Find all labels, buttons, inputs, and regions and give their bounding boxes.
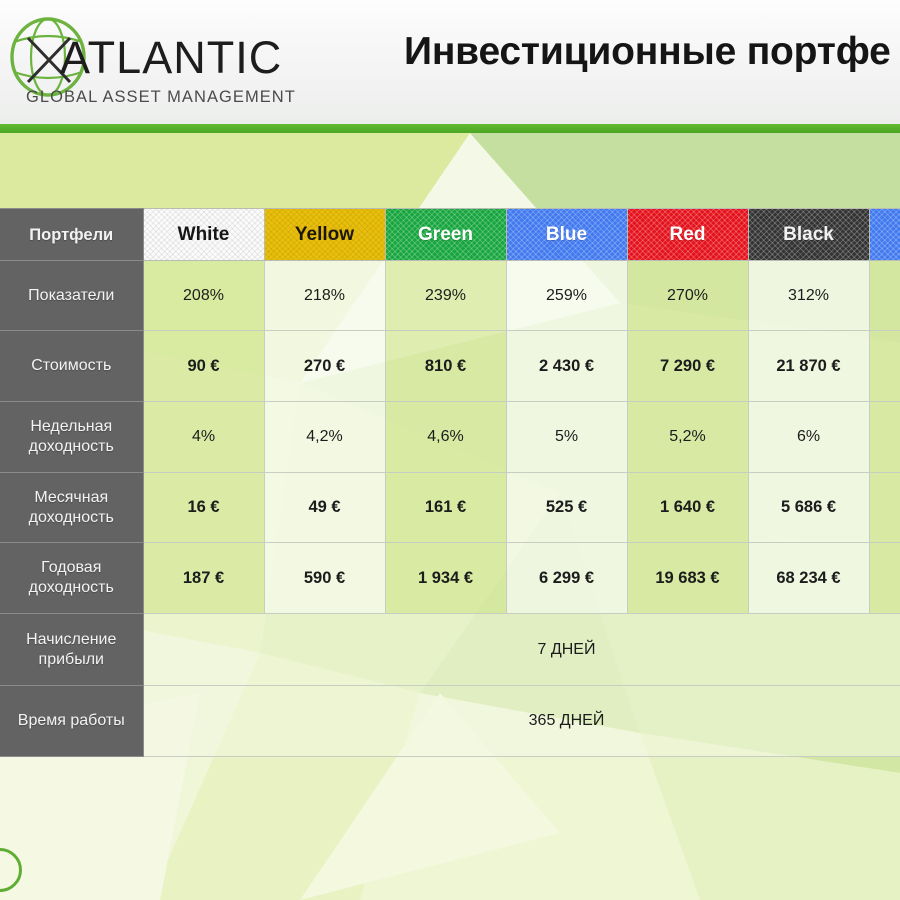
cell-annual-red: 19 683 € <box>627 543 748 614</box>
row-label-weekly-yield: Недельная доходность <box>0 402 143 473</box>
cell-monthly-red: 1 640 € <box>627 473 748 543</box>
cell-cost-green: 810 € <box>385 331 506 402</box>
column-header-next[interactable] <box>869 209 900 261</box>
cell-weekly-green: 4,6% <box>385 402 506 473</box>
portfolio-table-container: Портфели White Yellow Green Blue Red <box>0 208 900 760</box>
cell-annual-black: 68 234 € <box>748 543 869 614</box>
cell-indicators-yellow: 218% <box>264 261 385 331</box>
row-label-profit-accrual: Начисление прибыли <box>0 614 143 686</box>
cell-weekly-blue: 5% <box>506 402 627 473</box>
column-header-label: Green <box>418 224 473 245</box>
cell-work-time-value: 365 ДНЕЙ <box>143 686 900 757</box>
cell-annual-next: 2 <box>869 543 900 614</box>
column-header-red[interactable]: Red <box>627 209 748 261</box>
logo-wordmark: ATLANTIC <box>60 32 282 84</box>
column-header-label: Blue <box>546 224 587 245</box>
table-row: Годовая доходность 187 € 590 € 1 934 € 6… <box>0 543 900 614</box>
cell-monthly-white: 16 € <box>143 473 264 543</box>
cell-indicators-green: 239% <box>385 261 506 331</box>
row-label-cost: Стоимость <box>0 331 143 402</box>
row-label-annual-yield: Годовая доходность <box>0 543 143 614</box>
row-label-indicators: Показатели <box>0 261 143 331</box>
cell-cost-white: 90 € <box>143 331 264 402</box>
row-label-work-time: Время работы <box>0 686 143 757</box>
table-header-row: Портфели White Yellow Green Blue Red <box>0 209 900 261</box>
cell-cost-next: 6 <box>869 331 900 402</box>
cell-annual-yellow: 590 € <box>264 543 385 614</box>
cell-weekly-red: 5,2% <box>627 402 748 473</box>
accent-divider <box>0 124 900 133</box>
portfolio-table: Портфели White Yellow Green Blue Red <box>0 208 900 757</box>
column-header-label: Red <box>670 224 706 245</box>
cell-cost-red: 7 290 € <box>627 331 748 402</box>
cell-weekly-next <box>869 402 900 473</box>
cell-monthly-black: 5 686 € <box>748 473 869 543</box>
table-row: Время работы 365 ДНЕЙ <box>0 686 900 757</box>
table-row: Недельная доходность 4% 4,2% 4,6% 5% 5,2… <box>0 402 900 473</box>
cell-weekly-yellow: 4,2% <box>264 402 385 473</box>
cell-indicators-red: 270% <box>627 261 748 331</box>
cell-cost-black: 21 870 € <box>748 331 869 402</box>
cell-annual-blue: 6 299 € <box>506 543 627 614</box>
page-title: Инвестиционные портфе <box>404 30 891 74</box>
table-row: Показатели 208% 218% 239% 259% 270% 312% <box>0 261 900 331</box>
cell-cost-yellow: 270 € <box>264 331 385 402</box>
cell-indicators-next <box>869 261 900 331</box>
cell-annual-green: 1 934 € <box>385 543 506 614</box>
column-header-label: Yellow <box>295 224 354 245</box>
table-row: Месячная доходность 16 € 49 € 161 € 525 … <box>0 473 900 543</box>
cell-annual-white: 187 € <box>143 543 264 614</box>
brand-logo: ATLANTIC GLOBAL ASSET MANAGEMENT <box>8 14 272 106</box>
cell-monthly-yellow: 49 € <box>264 473 385 543</box>
cell-indicators-white: 208% <box>143 261 264 331</box>
table-row: Начисление прибыли 7 ДНЕЙ <box>0 614 900 686</box>
column-header-green[interactable]: Green <box>385 209 506 261</box>
cell-monthly-next: 1 <box>869 473 900 543</box>
cell-weekly-black: 6% <box>748 402 869 473</box>
column-header-blue[interactable]: Blue <box>506 209 627 261</box>
row-label-monthly-yield: Месячная доходность <box>0 473 143 543</box>
cell-monthly-blue: 525 € <box>506 473 627 543</box>
row-label-portfolios: Портфели <box>0 209 143 261</box>
column-header-label: Black <box>783 224 834 245</box>
page-header: ATLANTIC GLOBAL ASSET MANAGEMENT Инвести… <box>0 0 900 124</box>
cell-monthly-green: 161 € <box>385 473 506 543</box>
column-header-yellow[interactable]: Yellow <box>264 209 385 261</box>
cell-indicators-black: 312% <box>748 261 869 331</box>
column-header-black[interactable]: Black <box>748 209 869 261</box>
cell-profit-accrual-value: 7 ДНЕЙ <box>143 614 900 686</box>
hatch-texture <box>870 209 900 260</box>
cell-indicators-blue: 259% <box>506 261 627 331</box>
logo-tagline: GLOBAL ASSET MANAGEMENT <box>26 88 296 107</box>
column-header-label: White <box>178 224 230 245</box>
column-header-white[interactable]: White <box>143 209 264 261</box>
cell-weekly-white: 4% <box>143 402 264 473</box>
table-row: Стоимость 90 € 270 € 810 € 2 430 € 7 290… <box>0 331 900 402</box>
cell-cost-blue: 2 430 € <box>506 331 627 402</box>
